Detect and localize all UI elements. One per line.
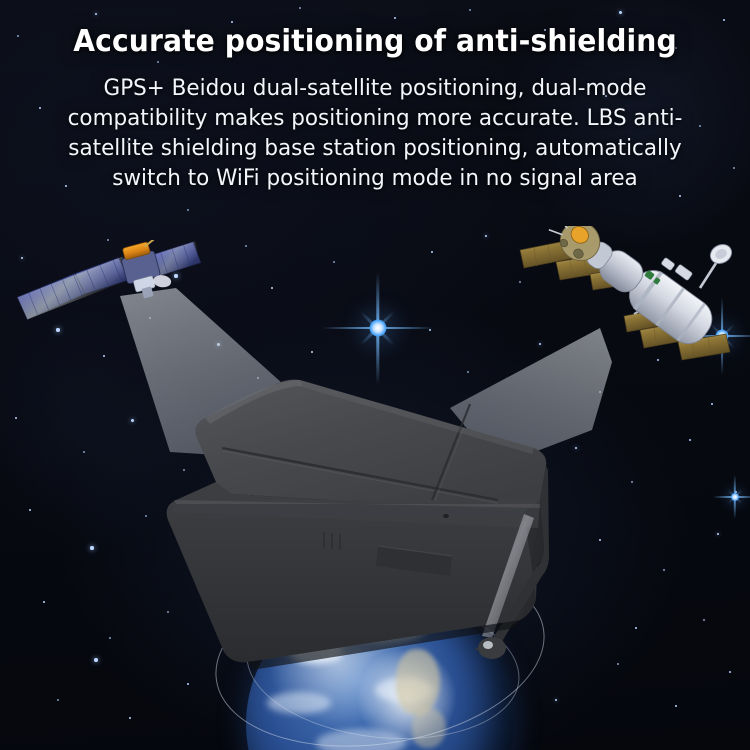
copy-block: Accurate positioning of anti-shielding G…: [0, 24, 750, 194]
product-feature-poster: Accurate positioning of anti-shielding G…: [0, 0, 750, 750]
beidou-space-station: [512, 226, 750, 374]
body-text: GPS+ Beidou dual-satellite positioning, …: [54, 73, 696, 194]
gps-satellite: [6, 240, 206, 336]
page-title: Accurate positioning of anti-shielding: [23, 24, 728, 59]
